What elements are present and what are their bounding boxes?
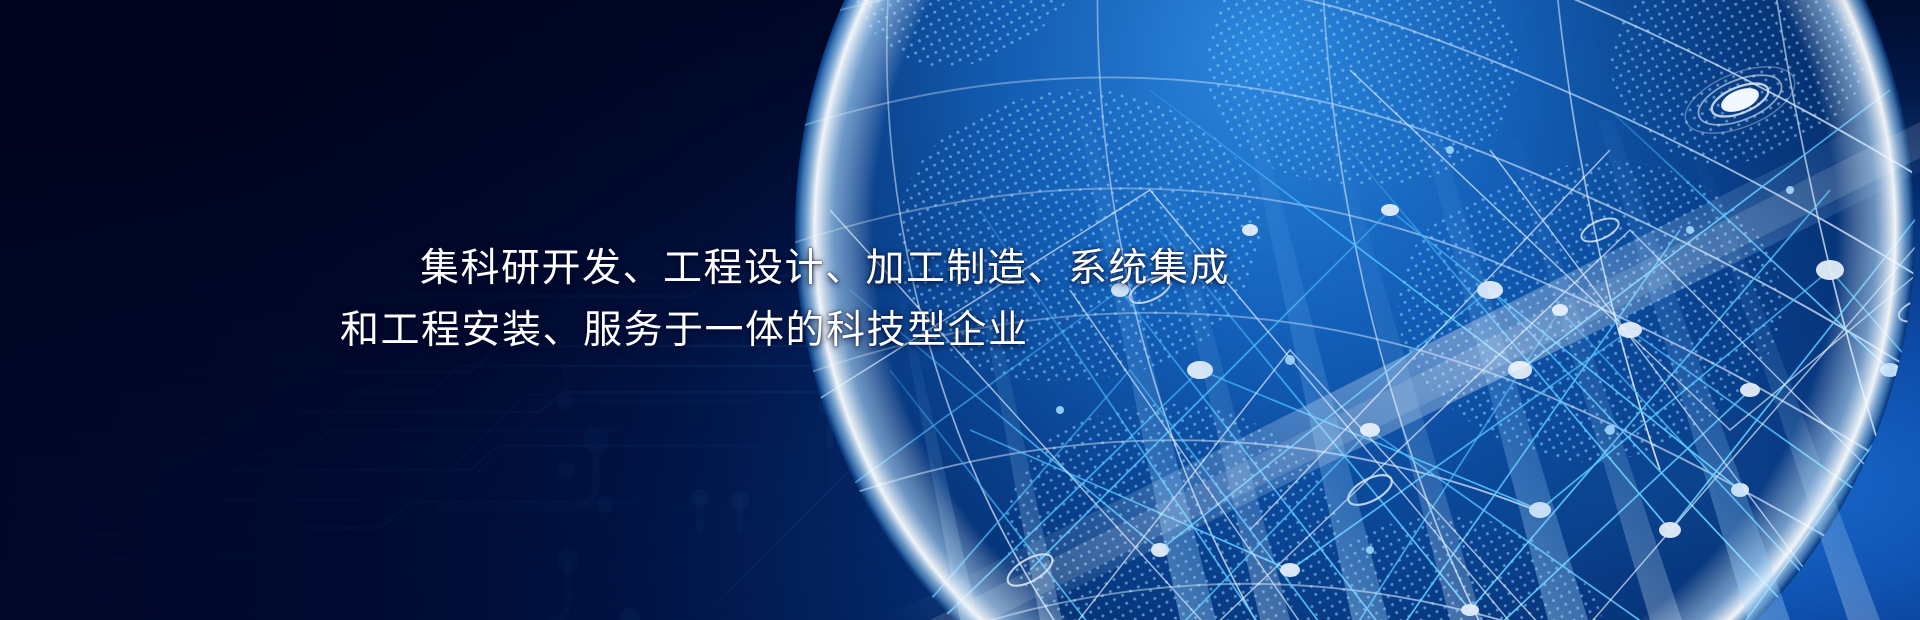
light-rays <box>0 0 1920 620</box>
hero-banner: 集科研开发、工程设计、加工制造、系统集成 和工程安装、服务于一体的科技型企业 <box>0 0 1920 620</box>
